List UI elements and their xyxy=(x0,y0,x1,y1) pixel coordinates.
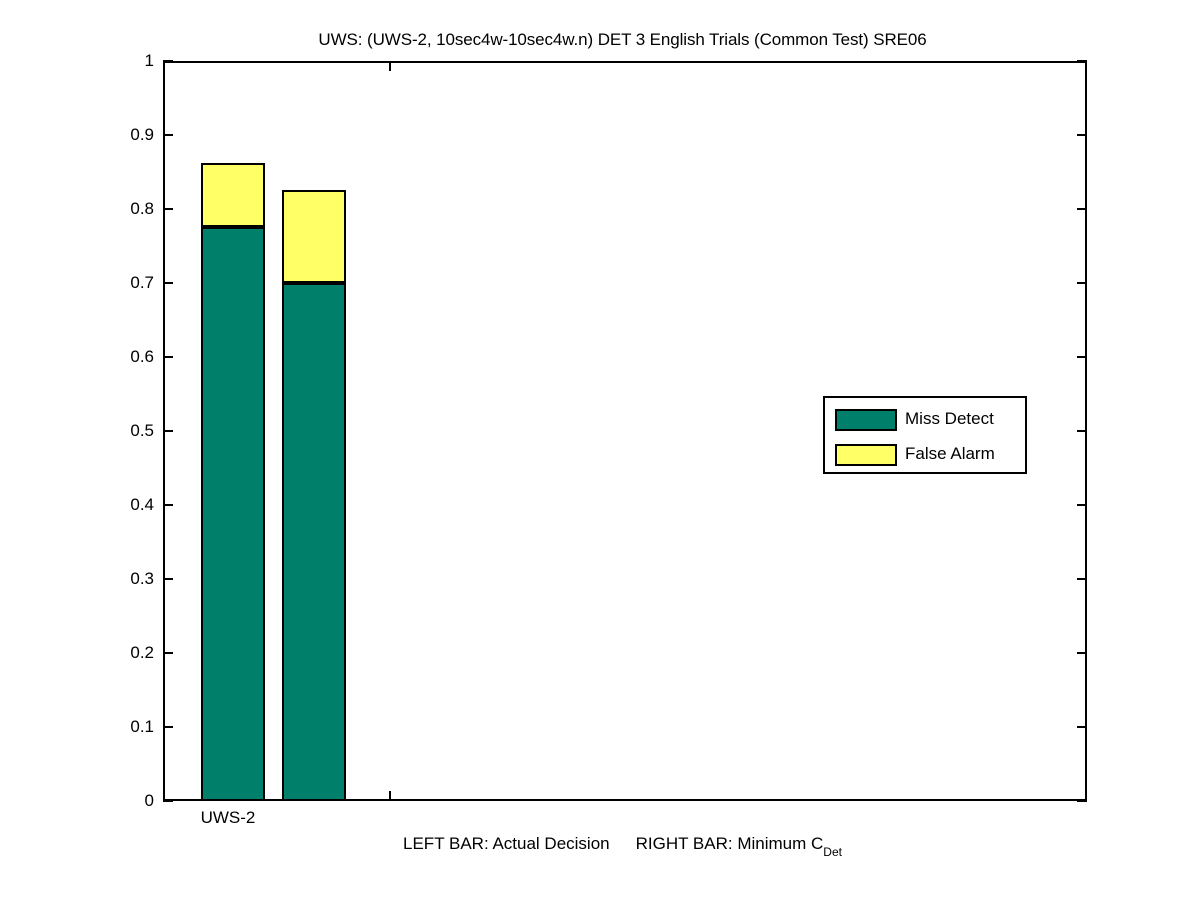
bar-segment-miss-detect[interactable] xyxy=(282,283,346,801)
y-axis-tick xyxy=(163,430,173,432)
y-axis-tick-right xyxy=(1077,208,1087,210)
legend-swatch-false-alarm xyxy=(835,444,897,466)
chart-title-text: UWS: (UWS-2, 10sec4w-10sec4w.n) DET 3 En… xyxy=(318,30,926,50)
y-axis-tick xyxy=(163,578,173,580)
x-axis-label-right: RIGHT BAR: Minimum C xyxy=(636,834,824,853)
legend-swatch-miss-detect xyxy=(835,409,897,431)
bar-minimum-cdet[interactable] xyxy=(282,190,346,801)
y-axis-tick-right xyxy=(1077,504,1087,506)
y-axis-tick-right xyxy=(1077,652,1087,654)
y-axis-tick-label: 0.8 xyxy=(34,200,154,217)
y-axis-tick xyxy=(163,208,173,210)
y-axis-tick xyxy=(163,282,173,284)
chart-legend: Miss DetectFalse Alarm xyxy=(823,396,1027,474)
y-axis-tick-label: 1 xyxy=(34,52,154,69)
bar-segment-false-alarm[interactable] xyxy=(201,163,265,227)
y-axis-tick-right xyxy=(1077,578,1087,580)
y-axis-tick-right xyxy=(1077,800,1087,802)
figure-canvas: UWS: (UWS-2, 10sec4w-10sec4w.n) DET 3 En… xyxy=(0,0,1201,900)
y-axis-tick xyxy=(163,60,173,62)
x-axis-tick xyxy=(389,791,391,801)
y-axis-tick xyxy=(163,134,173,136)
y-axis-tick xyxy=(163,726,173,728)
y-axis-tick-label: 0.7 xyxy=(34,274,154,291)
bar-segment-miss-detect[interactable] xyxy=(201,227,265,801)
y-axis-tick-label: 0 xyxy=(34,792,154,809)
y-axis-tick-label: 0.1 xyxy=(34,718,154,735)
x-axis-label-left: LEFT BAR: Actual Decision xyxy=(403,834,610,853)
legend-label: False Alarm xyxy=(905,443,995,465)
x-axis-label-text: LEFT BAR: Actual DecisionRIGHT BAR: Mini… xyxy=(403,834,842,859)
y-axis-tick-right xyxy=(1077,282,1087,284)
x-axis-tick-top xyxy=(389,61,391,71)
x-axis-category-label: UWS-2 xyxy=(128,808,328,827)
y-axis-tick xyxy=(163,356,173,358)
y-axis-tick-label: 0.5 xyxy=(34,422,154,439)
chart-title: UWS: (UWS-2, 10sec4w-10sec4w.n) DET 3 En… xyxy=(0,30,1201,50)
x-axis-label-subscript: Det xyxy=(823,845,842,859)
y-axis-tick-right xyxy=(1077,430,1087,432)
y-axis-tick-label: 0.4 xyxy=(34,496,154,513)
x-axis-label: LEFT BAR: Actual DecisionRIGHT BAR: Mini… xyxy=(0,834,1201,859)
y-axis-tick-right xyxy=(1077,356,1087,358)
y-axis-tick-label: 0.2 xyxy=(34,644,154,661)
y-axis-tick-right xyxy=(1077,60,1087,62)
y-axis-tick xyxy=(163,652,173,654)
y-axis-tick-right xyxy=(1077,726,1087,728)
y-axis-tick-label: 0.3 xyxy=(34,570,154,587)
bar-actual-decision[interactable] xyxy=(201,163,265,801)
legend-label: Miss Detect xyxy=(905,408,994,430)
y-axis-tick-label: 0.9 xyxy=(34,126,154,143)
y-axis-tick-right xyxy=(1077,134,1087,136)
legend-item[interactable]: Miss Detect xyxy=(825,404,1025,434)
bar-segment-false-alarm[interactable] xyxy=(282,190,346,283)
y-axis-tick xyxy=(163,504,173,506)
legend-item[interactable]: False Alarm xyxy=(825,439,1025,469)
y-axis-tick-label: 0.6 xyxy=(34,348,154,365)
y-axis-tick xyxy=(163,800,173,802)
